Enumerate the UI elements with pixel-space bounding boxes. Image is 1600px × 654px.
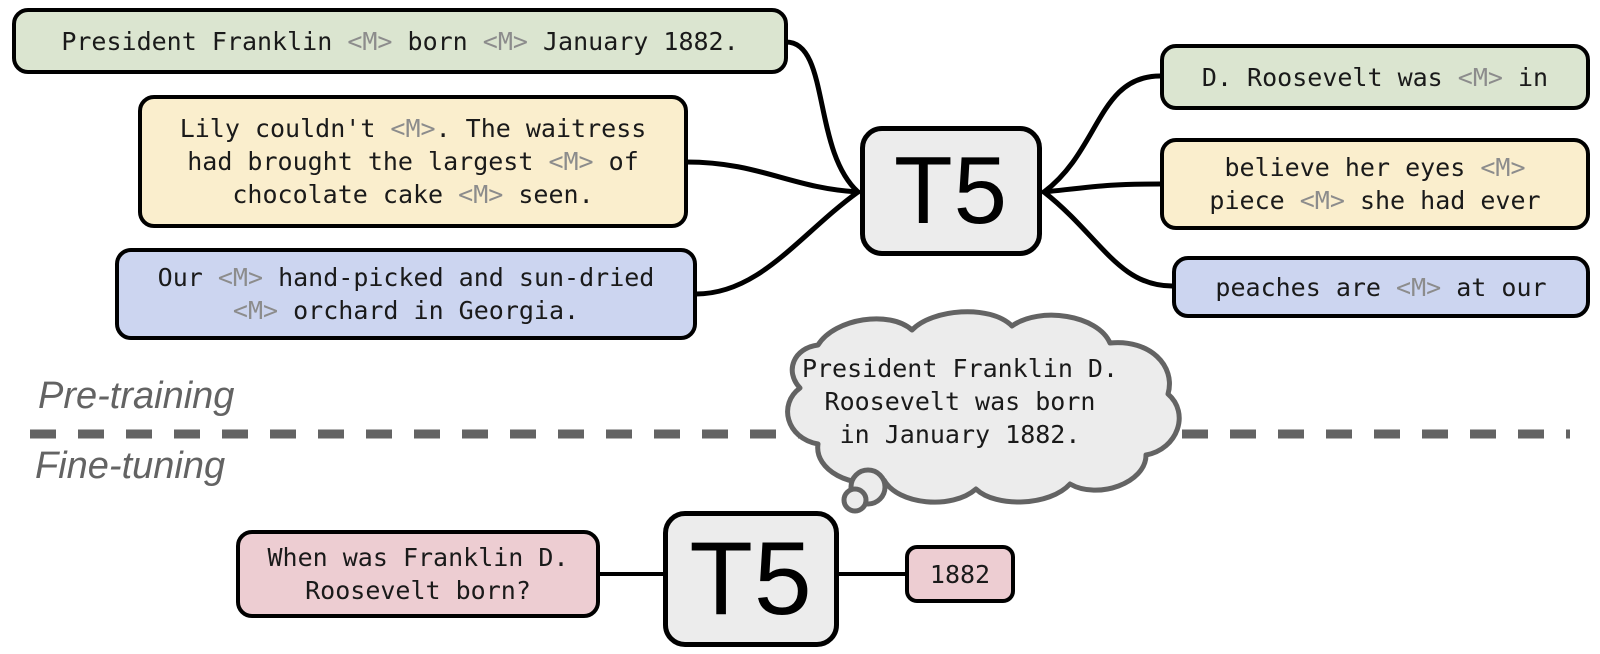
- t5-model-finetuning: T5: [663, 511, 839, 647]
- wire-target-yellow: [1044, 184, 1160, 192]
- finetune-answer-text: 1882: [930, 558, 990, 591]
- mask-token: <M>: [233, 296, 278, 325]
- pretrain-target-box-yellow: believe her eyes <M> piece <M> she had e…: [1160, 138, 1590, 230]
- mask-token: <M>: [483, 27, 528, 56]
- t5-model-finetuning-label: T5: [689, 520, 812, 639]
- pretrain-input-blue-text: Our <M> hand-picked and sun-dried <M> or…: [158, 261, 655, 327]
- mask-token: <M>: [1480, 153, 1525, 182]
- cloud-tail-bubble-large: [851, 470, 885, 504]
- pretrain-target-box-blue: peaches are <M> at our: [1172, 256, 1590, 318]
- mask-token: <M>: [1396, 273, 1441, 302]
- wire-target-green: [1044, 76, 1160, 192]
- mask-token: <M>: [1458, 63, 1503, 92]
- wire-input-yellow: [686, 162, 858, 192]
- pretrain-target-box-green: D. Roosevelt was <M> in: [1160, 44, 1590, 110]
- mask-token: <M>: [218, 263, 263, 292]
- mask-token: <M>: [390, 114, 435, 143]
- pretrain-target-yellow-text: believe her eyes <M> piece <M> she had e…: [1209, 151, 1540, 217]
- mask-token: <M>: [458, 180, 503, 209]
- pretrain-target-green-text: D. Roosevelt was <M> in: [1202, 61, 1548, 94]
- figure-canvas: President Franklin D. Roosevelt was born…: [0, 0, 1600, 654]
- t5-model-pretraining-label: T5: [894, 136, 1008, 246]
- pretrain-input-yellow-text: Lily couldn't <M>. The waitress had brou…: [180, 112, 647, 211]
- mask-token: <M>: [347, 27, 392, 56]
- wire-target-blue: [1044, 192, 1172, 286]
- mask-token: <M>: [1300, 186, 1345, 215]
- pretrain-target-blue-text: peaches are <M> at our: [1215, 271, 1546, 304]
- thought-bubble-text: President Franklin D. Roosevelt was born…: [770, 352, 1150, 451]
- cloud-tail-bubble-small: [844, 489, 866, 511]
- pretrain-input-green-text: President Franklin <M> born <M> January …: [61, 25, 738, 58]
- t5-model-pretraining: T5: [860, 126, 1042, 256]
- pretrain-input-box-yellow: Lily couldn't <M>. The waitress had brou…: [138, 95, 688, 228]
- finetune-question-box: When was Franklin D. Roosevelt born?: [236, 530, 600, 618]
- phase-label-pretraining: Pre-training: [38, 375, 234, 418]
- mask-token: <M>: [548, 147, 593, 176]
- phase-label-finetuning: Fine-tuning: [35, 445, 225, 488]
- pretrain-input-box-green: President Franklin <M> born <M> January …: [12, 8, 788, 74]
- wire-input-green: [786, 42, 858, 192]
- wire-input-blue: [696, 192, 858, 294]
- finetune-question-text: When was Franklin D. Roosevelt born?: [267, 541, 568, 607]
- pretrain-input-box-blue: Our <M> hand-picked and sun-dried <M> or…: [115, 248, 697, 340]
- finetune-answer-box: 1882: [905, 545, 1015, 603]
